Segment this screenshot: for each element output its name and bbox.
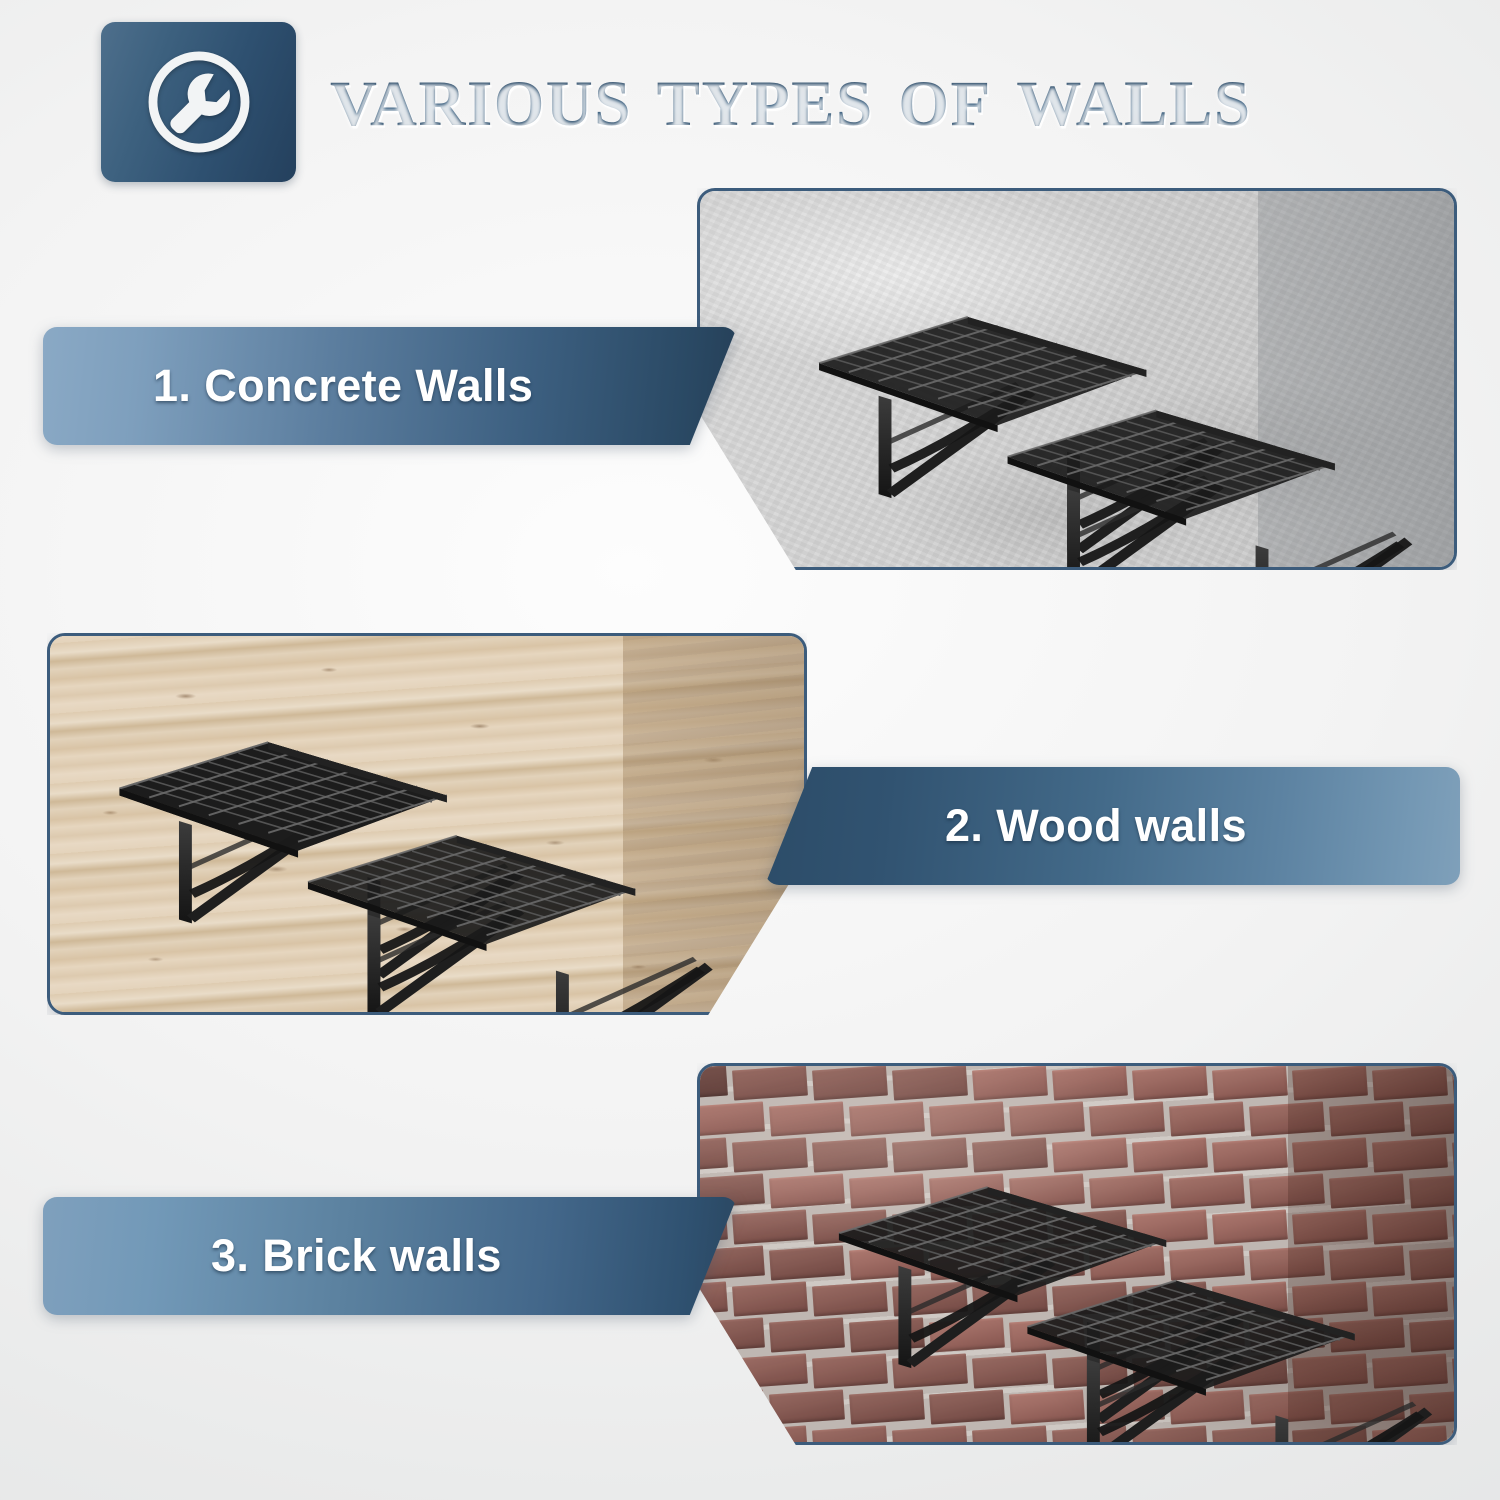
banner-label: 2. Wood walls <box>945 800 1247 852</box>
logo-badge <box>101 22 296 182</box>
page-title: Various Types of Walls <box>330 34 1450 154</box>
wire-shelf-product-image <box>50 636 804 1012</box>
page-header: Various Types of Walls Various Types of … <box>0 0 1500 200</box>
banner-concrete-walls[interactable]: 1. Concrete Walls <box>43 327 737 445</box>
wire-shelf-product-image <box>700 1066 1454 1442</box>
banner-label: 1. Concrete Walls <box>153 360 533 412</box>
wrench-in-circle-icon <box>140 43 258 161</box>
photo-panel-brick <box>697 1063 1457 1445</box>
photo-panel-wood <box>47 633 807 1015</box>
banner-brick-walls[interactable]: 3. Brick walls <box>43 1197 737 1315</box>
banner-label: 3. Brick walls <box>211 1230 502 1282</box>
photo-panel-concrete <box>697 188 1457 570</box>
wire-shelf-product-image <box>700 191 1454 567</box>
banner-wood-walls[interactable]: 2. Wood walls <box>765 767 1460 885</box>
